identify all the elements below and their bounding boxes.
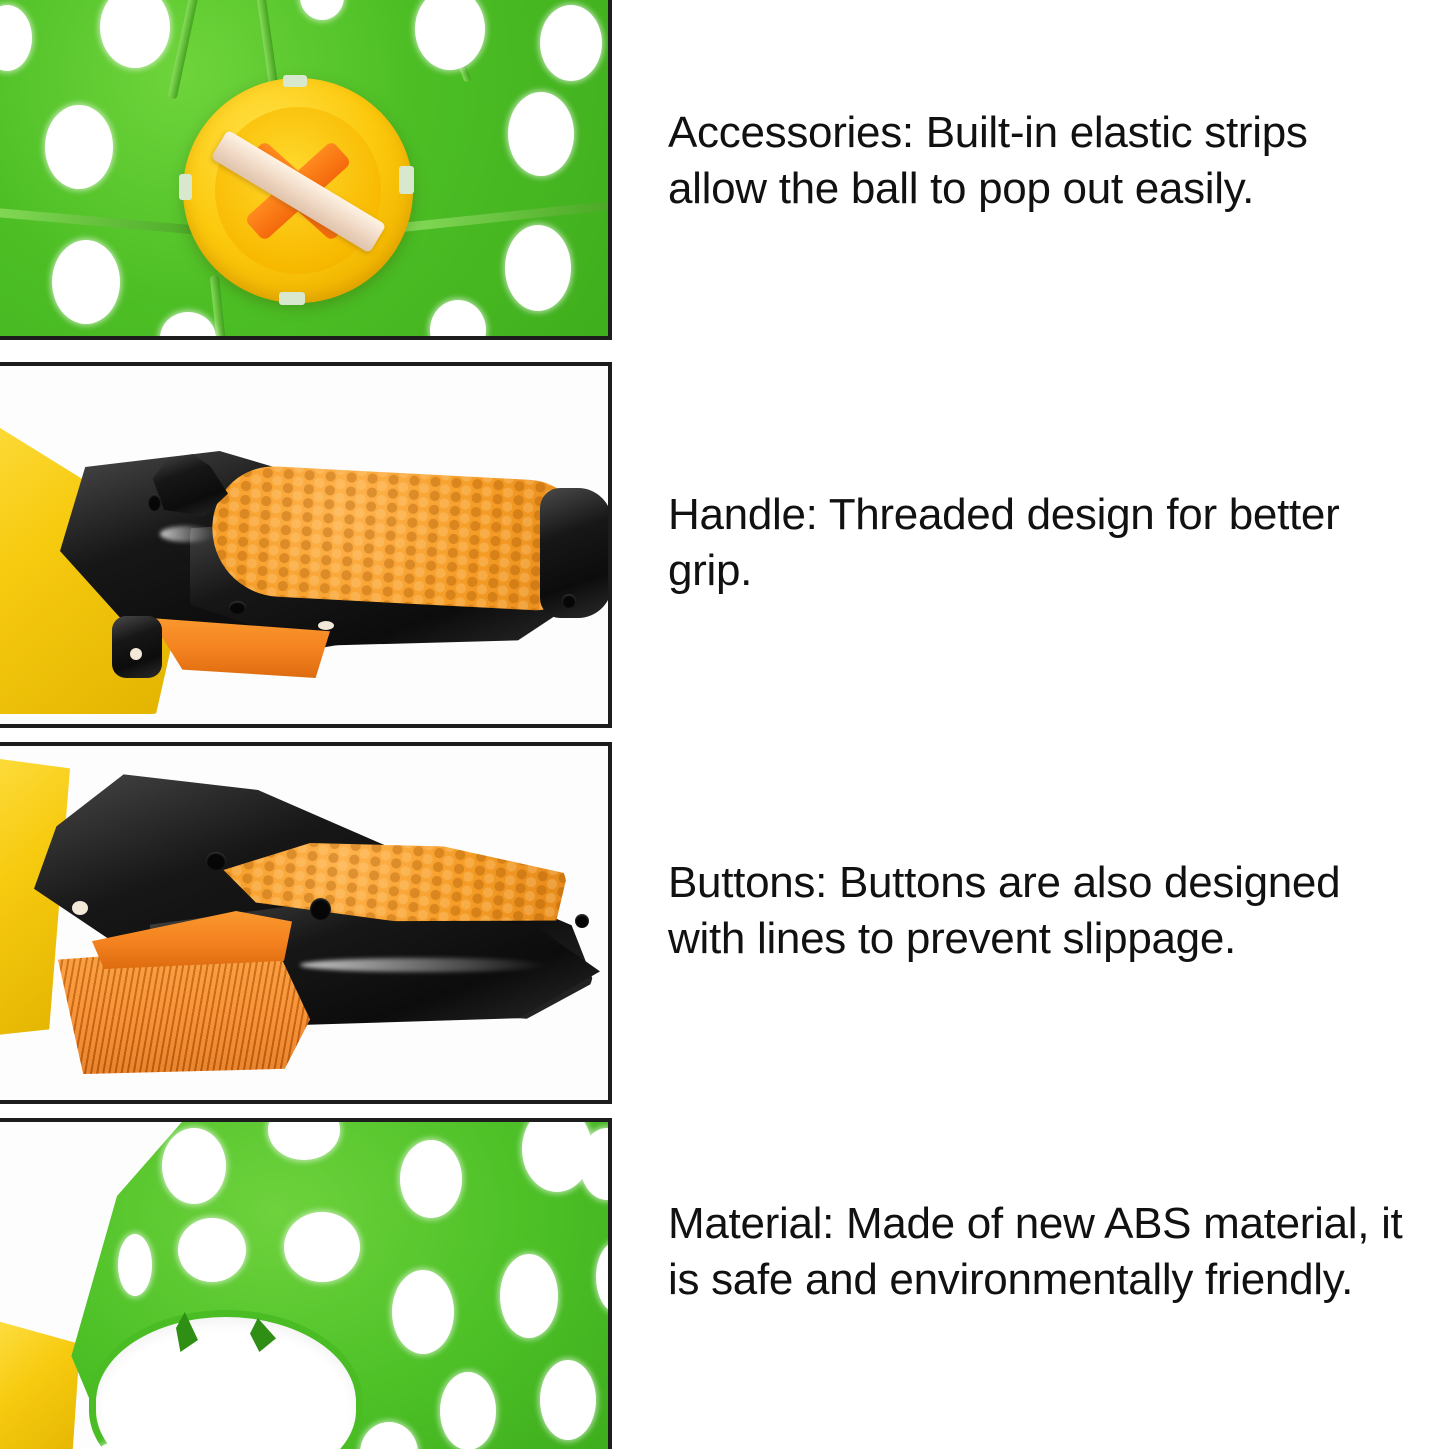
basket-hole (508, 92, 574, 176)
hub-notch (179, 174, 192, 200)
basket-hole (178, 1218, 246, 1282)
pivot-pin (72, 901, 88, 915)
feature-panel-buttons (0, 742, 612, 1104)
feature-panel-material (0, 1118, 612, 1449)
basket-hole (162, 1128, 226, 1204)
caption-handle: Handle: Threaded design for better grip. (668, 487, 1416, 600)
screw-hole (562, 594, 576, 608)
screw-hole (310, 898, 331, 920)
basket-hole (540, 5, 602, 81)
screw-hole (148, 494, 161, 511)
basket-hole (505, 225, 571, 311)
buttons-photo (0, 746, 608, 1100)
center-hub (183, 78, 413, 303)
hub-notch (399, 166, 414, 194)
basket-hole (45, 105, 113, 189)
feature-panel-handle (0, 362, 612, 728)
basket-hole (118, 1234, 152, 1296)
hub-notch (279, 292, 305, 305)
basket-hole (540, 1360, 596, 1440)
caption-accessories: Accessories: Built-in elastic strips all… (668, 105, 1416, 218)
caption-material: Material: Made of new ABS material, it i… (668, 1196, 1416, 1309)
trigger-pivot (112, 616, 162, 678)
basket-hole (500, 1254, 558, 1338)
textured-grip-pad (209, 463, 587, 612)
screw-hole (229, 601, 246, 614)
screw-hole (575, 914, 589, 928)
basket-hole (392, 1270, 454, 1354)
handle-photo (0, 366, 608, 724)
screw-hole-light (318, 621, 334, 630)
basket-hole (440, 1372, 496, 1449)
basket-hole (400, 1140, 462, 1218)
pivot-pin (130, 648, 142, 660)
hub-notch (283, 75, 307, 87)
basket-hole (52, 240, 120, 324)
infographic-sheet: Accessories: Built-in elastic strips all… (0, 0, 1445, 1445)
feature-panel-accessories (0, 0, 612, 340)
screw-hole (206, 852, 226, 870)
caption-buttons: Buttons: Buttons are also designed with … (668, 855, 1416, 968)
body-highlight (300, 958, 550, 972)
latch-highlight (160, 526, 214, 542)
basket-hole (284, 1212, 360, 1282)
material-photo (0, 1122, 608, 1449)
accessories-photo (0, 0, 608, 336)
